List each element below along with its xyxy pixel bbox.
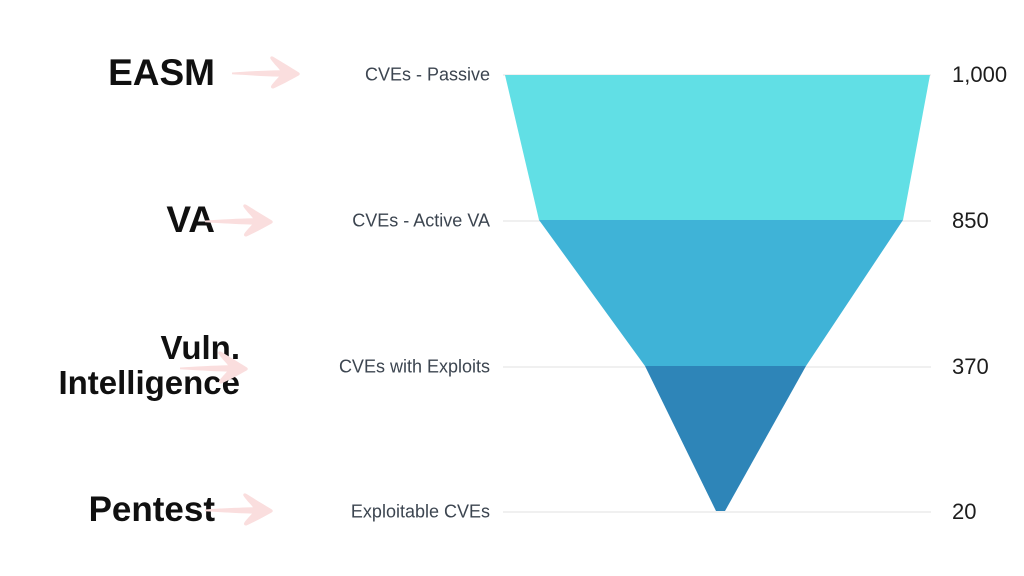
- funnel-band-vuln-intelligence: [645, 366, 806, 511]
- row-label-cves-active-va: CVEs - Active VA: [190, 211, 490, 232]
- row-label-cves-with-exploits: CVEs with Exploits: [190, 357, 490, 378]
- row-label-exploitable-cves: Exploitable CVEs: [190, 502, 490, 523]
- value-label-1000-text: 1,000: [952, 62, 1007, 87]
- value-label-370-text: 370: [952, 354, 989, 379]
- stage-label-easm: EASM: [0, 48, 215, 98]
- value-label-20: 20: [952, 499, 976, 525]
- row-label-cves-with-exploits-text: CVEs with Exploits: [339, 357, 490, 377]
- gridline-1000: [503, 74, 931, 76]
- row-label-cves-passive-text: CVEs - Passive: [365, 65, 490, 85]
- stage-label-pentest: Pentest: [0, 485, 215, 535]
- row-label-cves-active-va-text: CVEs - Active VA: [352, 211, 490, 231]
- value-label-1000: 1,000: [952, 62, 1007, 88]
- gridline-20: [503, 511, 931, 513]
- gridline-370: [503, 366, 931, 368]
- stage-label-va: VA: [0, 196, 215, 244]
- value-label-20-text: 20: [952, 499, 976, 524]
- value-label-850: 850: [952, 208, 989, 234]
- gridline-850: [503, 220, 931, 222]
- funnel-chart: EASM CVEs - Passive 1,000 VA CVEs - Acti…: [0, 0, 1024, 576]
- value-label-850-text: 850: [952, 208, 989, 233]
- funnel-band-va: [539, 220, 903, 366]
- row-label-cves-passive: CVEs - Passive: [190, 65, 490, 86]
- funnel-band-easm: [505, 75, 930, 220]
- row-label-exploitable-cves-text: Exploitable CVEs: [351, 502, 490, 522]
- value-label-370: 370: [952, 354, 989, 380]
